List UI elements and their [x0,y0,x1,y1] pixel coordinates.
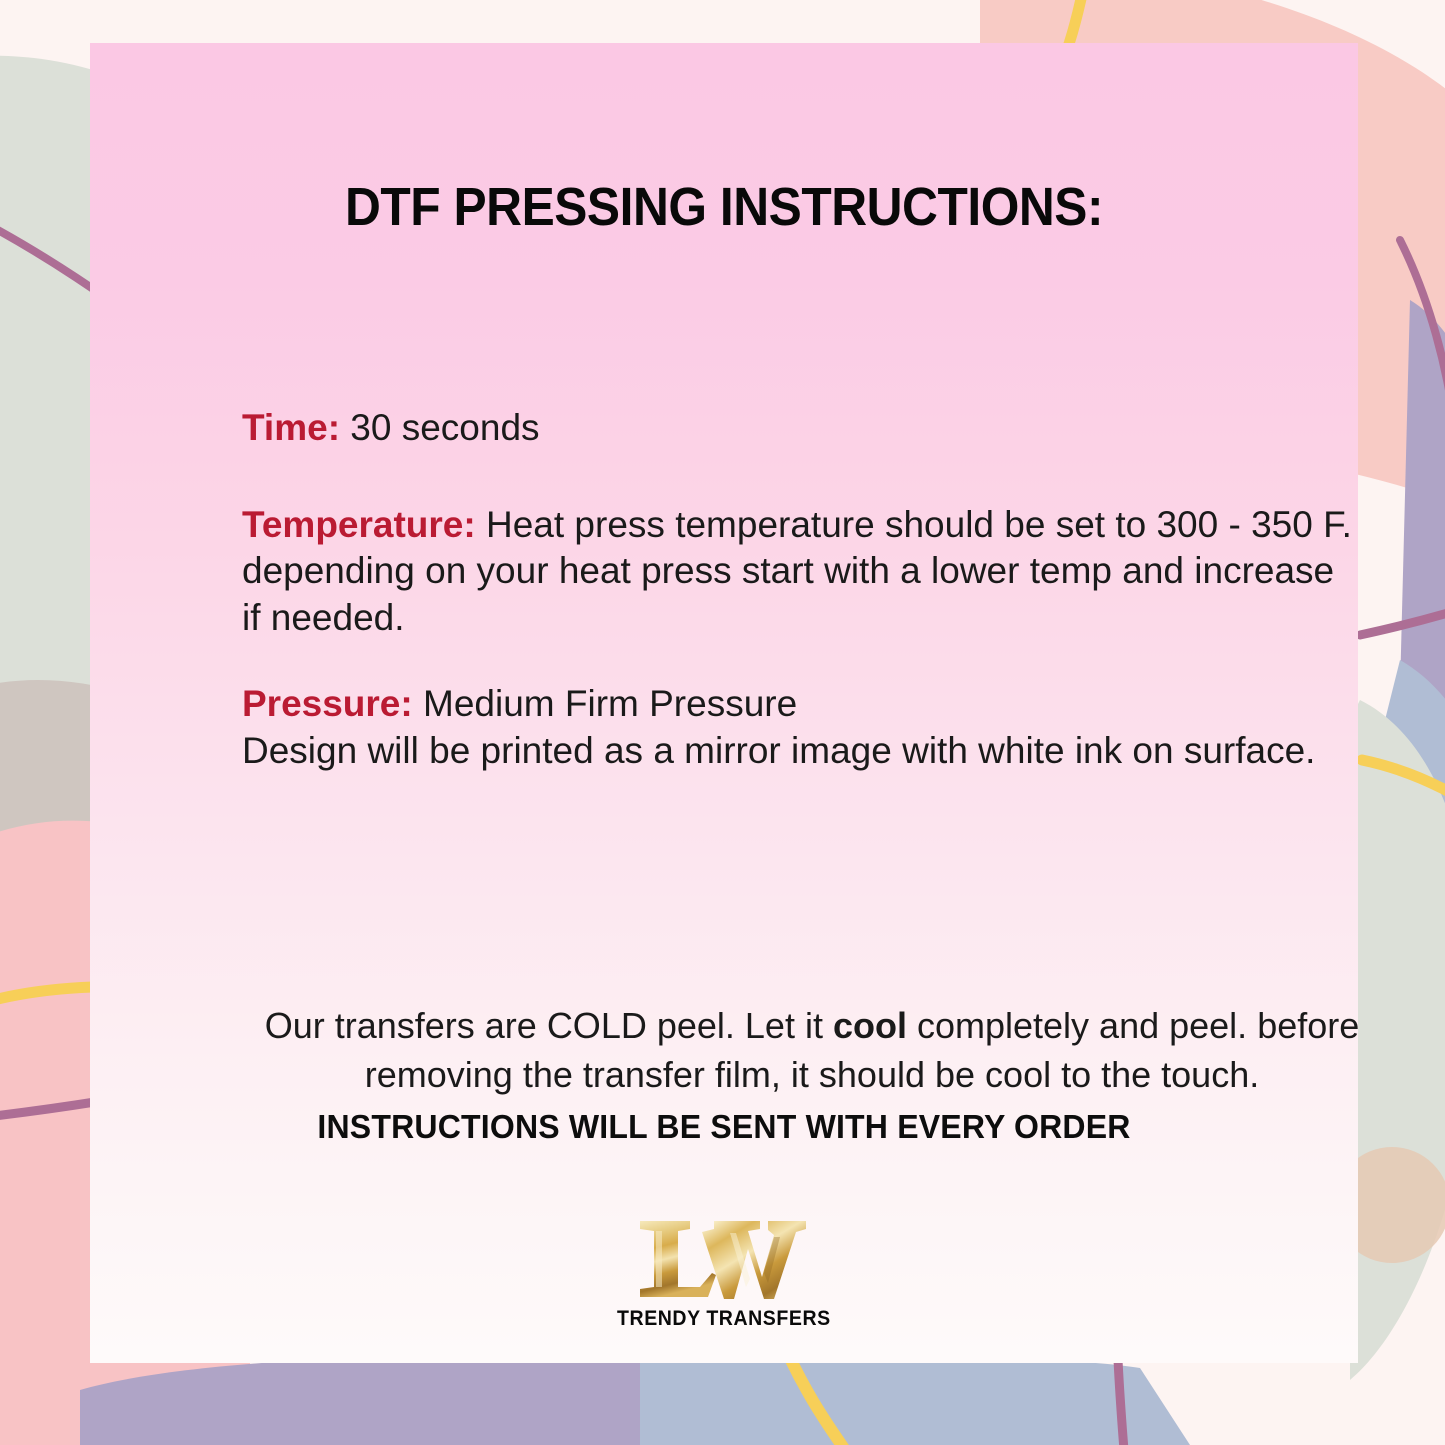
spacer [242,641,1358,681]
time-row: Time: 30 seconds [242,405,1358,452]
footer-note: INSTRUCTIONS WILL BE SENT WITH EVERY ORD… [109,1108,1339,1146]
page-title: DTF PRESSING INSTRUCTIONS: [141,176,1308,238]
blob-bluegray-bottom [640,1356,1190,1445]
line-mauve-bottom [1118,1360,1124,1445]
brand-logo: TRENDY TRANSFERS [90,1213,1358,1331]
logo-subtitle: TRENDY TRANSFERS [617,1307,831,1331]
letter-w [702,1221,806,1299]
instructions-body: Time: 30 seconds Temperature: Heat press… [242,405,1358,775]
lw-monogram-icon [634,1213,814,1305]
peel-line1-emphasis: cool [833,1005,907,1046]
pressure-value: Medium Firm Pressure [413,683,797,724]
pressure-label: Pressure: [242,683,413,724]
temperature-row: Temperature: Heat press temperature shou… [242,502,1358,642]
instruction-card: DTF PRESSING INSTRUCTIONS: Time: 30 seco… [90,43,1358,1363]
time-value: 30 seconds [340,407,540,448]
peel-line1-suffix: completely and peel. [907,1005,1247,1046]
peel-line1-prefix: Our transfers are COLD peel. Let it [265,1005,833,1046]
spacer [242,452,1358,502]
pressure-note: Design will be printed as a mirror image… [242,728,1358,775]
time-label: Time: [242,407,340,448]
pressure-row: Pressure: Medium Firm Pressure [242,681,1358,728]
temperature-label: Temperature: [242,504,476,545]
peel-instructions: Our transfers are COLD peel. Let it cool… [242,1001,1358,1100]
